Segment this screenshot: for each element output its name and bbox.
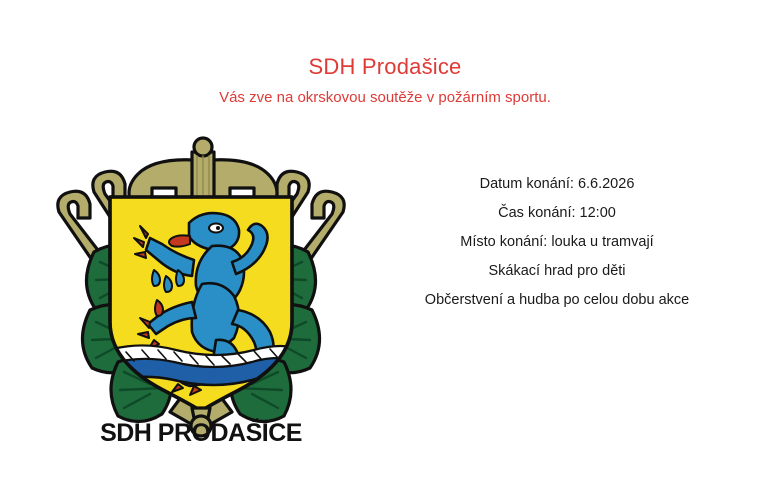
detail-line-place: Místo konání: louka u tramvají [392, 228, 722, 257]
detail-line-refreshments: Občerstvení a hudba po celou dobu akce [392, 286, 722, 315]
event-details-block: Datum konání: 6.6.2026 Čas konání: 12:00… [392, 170, 722, 315]
page-title: SDH Prodašice [0, 54, 770, 80]
poster-canvas: SDH Prodašice Vás zve na okrskovou soutě… [0, 0, 770, 485]
emblem-coat-of-arms: SDH PRODAŠICE [26, 134, 376, 446]
page-subtitle: Vás zve na okrskovou soutěže v požárním … [0, 88, 770, 108]
lion-tongue [169, 235, 190, 246]
detail-line-date: Datum konání: 6.6.2026 [392, 170, 722, 199]
detail-line-time: Čas konání: 12:00 [392, 199, 722, 228]
emblem-banner-text: SDH PRODAŠICE [100, 417, 302, 446]
detail-line-bouncy-castle: Skákací hrad pro děti [392, 257, 722, 286]
